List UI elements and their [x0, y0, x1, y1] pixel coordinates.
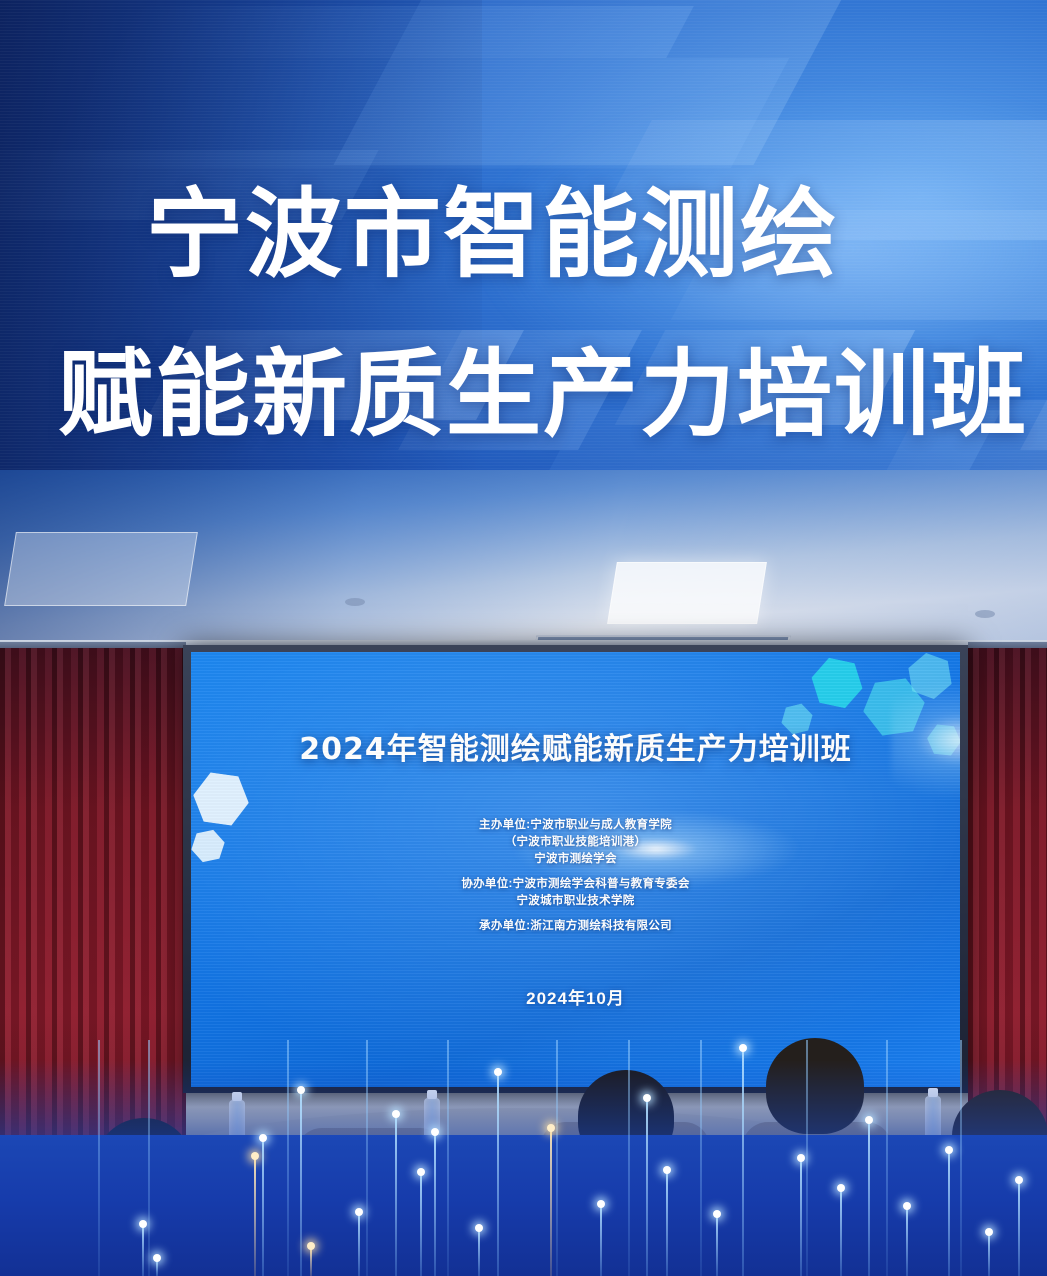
foreground-gradient-soft — [0, 1060, 1047, 1140]
screen-pixel-texture — [191, 652, 960, 1087]
ceiling-light-panel — [607, 562, 767, 624]
banner-title-line-1: 宁波市智能测绘 — [146, 186, 839, 283]
banner-title-line-2: 赋能新质生产力培训班 — [58, 348, 1028, 443]
presentation-screen: 2024年智能测绘赋能新质生产力培训班 主办单位:宁波市职业与成人教育学院 （宁… — [191, 652, 960, 1087]
poster-root: 宁波市智能测绘 赋能新质生产力培训班 2024年智能测 — [0, 0, 1047, 1276]
ceiling-speaker-icon — [975, 610, 995, 618]
foreground-blue-overlay — [0, 1135, 1047, 1276]
ceiling-panel — [4, 532, 198, 606]
banner-headline: 宁波市智能测绘 赋能新质生产力培训班 — [0, 0, 1047, 470]
ceiling-speaker-icon — [345, 598, 365, 606]
